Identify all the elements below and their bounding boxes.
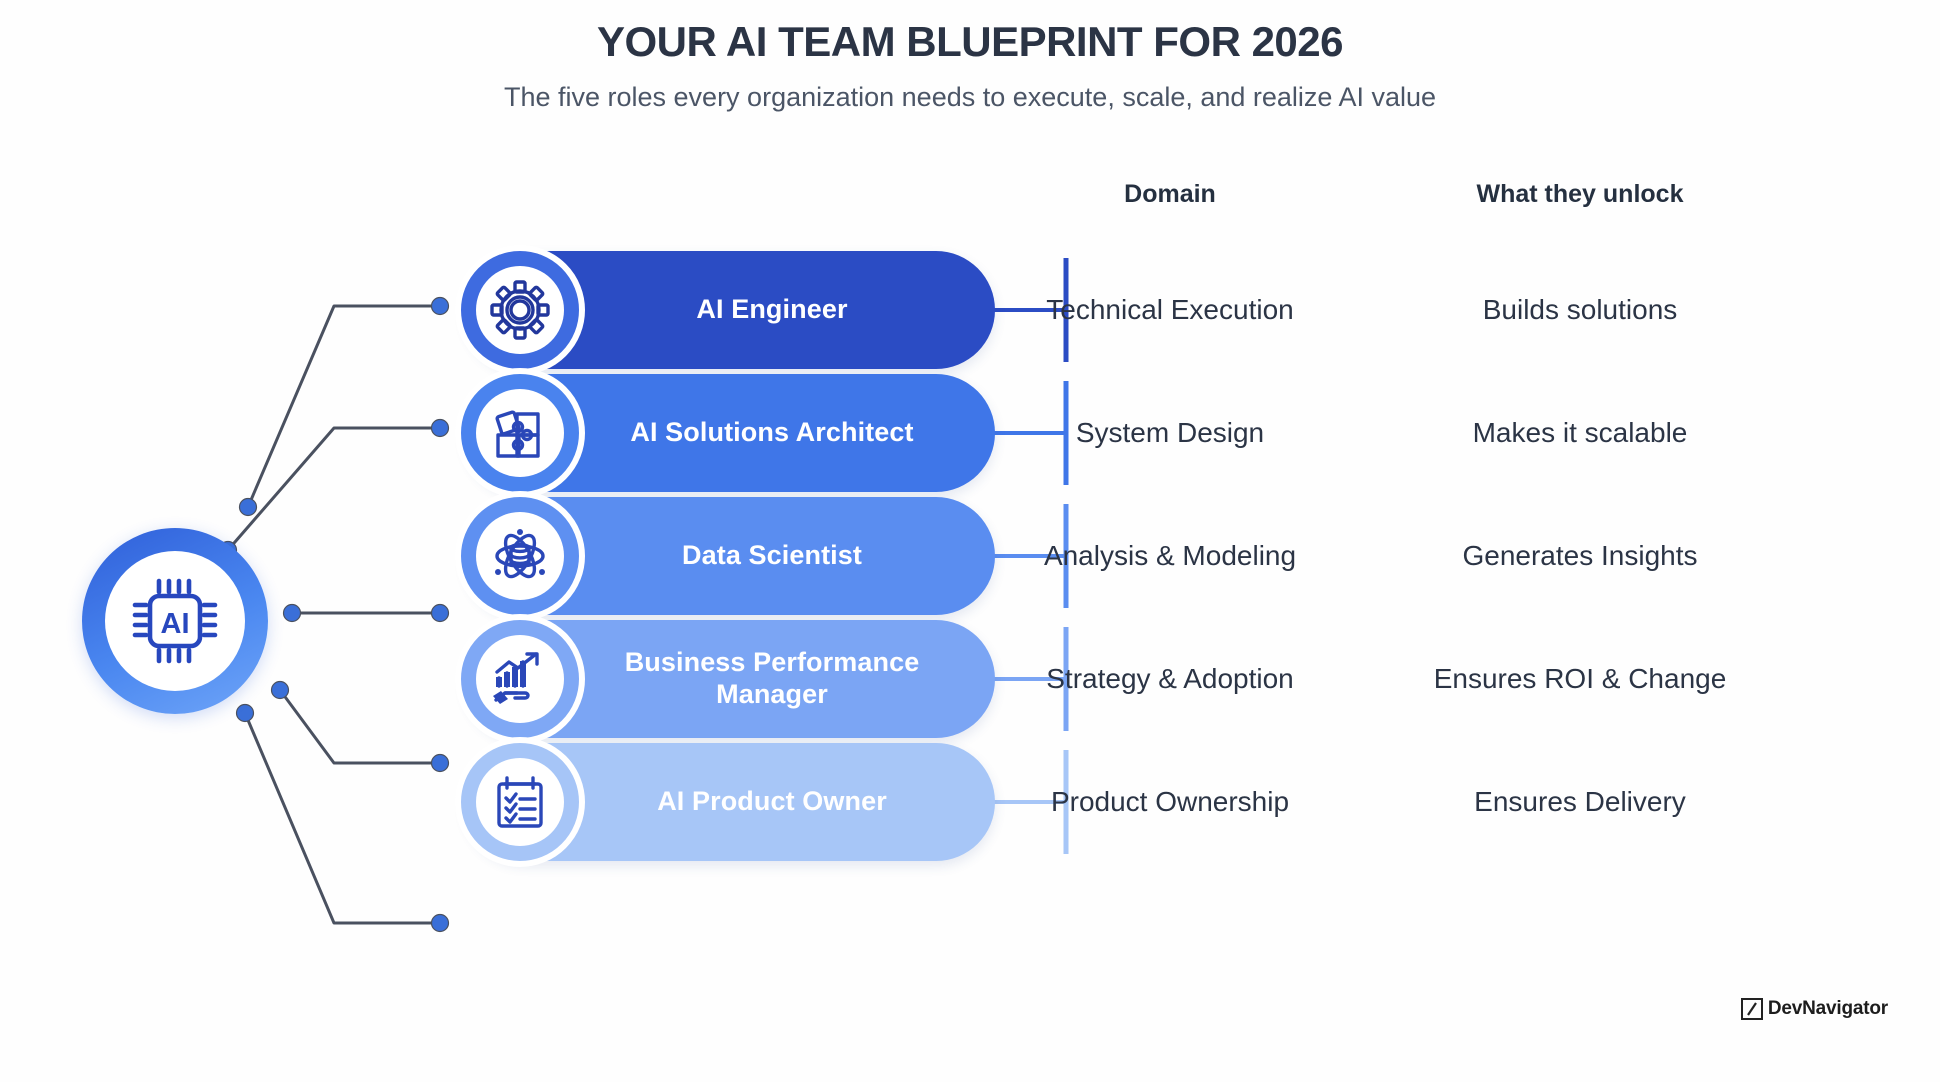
cell-unlock: Ensures ROI & Change: [1380, 620, 1780, 738]
infographic-canvas: YOUR AI TEAM BLUEPRINT FOR 2026 The five…: [0, 0, 1940, 1082]
cell-unlock: Makes it scalable: [1380, 374, 1780, 492]
role-icon-badge: [455, 614, 585, 744]
role-row: AI EngineerTechnical ExecutionBuilds sol…: [0, 251, 1940, 371]
page-subtitle: The five roles every organization needs …: [0, 82, 1940, 113]
role-icon-circle: [476, 389, 564, 477]
puzzle-icon: [489, 402, 551, 464]
brand-name: DevNavigator: [1768, 998, 1888, 1020]
role-icon-circle: [476, 635, 564, 723]
cell-unlock: Builds solutions: [1380, 251, 1780, 369]
role-icon-circle: [476, 512, 564, 600]
atom-database-icon: [489, 525, 551, 587]
role-pill-label: AI Engineer: [586, 294, 873, 326]
role-icon-badge: [455, 737, 585, 867]
brand-logo: DevNavigator: [1741, 998, 1888, 1020]
role-row: Business Performance ManagerStrategy & A…: [0, 620, 1940, 740]
gear-icon: [489, 279, 551, 341]
cell-domain: System Design: [1000, 374, 1340, 492]
role-pill-label: AI Product Owner: [547, 786, 913, 818]
role-icon-ring: [461, 251, 579, 369]
role-icon-badge: [455, 245, 585, 375]
role-row: AI Solutions ArchitectSystem DesignMakes…: [0, 374, 1940, 494]
cell-unlock: Ensures Delivery: [1380, 743, 1780, 861]
connector-dot: [432, 915, 449, 932]
role-icon-circle: [476, 758, 564, 846]
growth-chart-hand-icon: [489, 648, 551, 710]
page-title: YOUR AI TEAM BLUEPRINT FOR 2026: [0, 18, 1940, 66]
cell-domain: Product Ownership: [1000, 743, 1340, 861]
role-icon-ring: [461, 374, 579, 492]
cell-domain: Technical Execution: [1000, 251, 1340, 369]
role-pill-label: Data Scientist: [572, 540, 888, 572]
cell-domain: Analysis & Modeling: [1000, 497, 1340, 615]
cell-domain: Strategy & Adoption: [1000, 620, 1340, 738]
column-header-domain: Domain: [1000, 180, 1340, 209]
role-icon-circle: [476, 266, 564, 354]
role-icon-badge: [455, 368, 585, 498]
role-row: AI Product OwnerProduct OwnershipEnsures…: [0, 743, 1940, 863]
role-row: Data ScientistAnalysis & ModelingGenerat…: [0, 497, 1940, 617]
cell-unlock: Generates Insights: [1380, 497, 1780, 615]
column-header-unlock: What they unlock: [1380, 180, 1780, 209]
clipboard-checklist-icon: [489, 771, 551, 833]
role-icon-badge: [455, 491, 585, 621]
role-icon-ring: [461, 497, 579, 615]
role-icon-ring: [461, 620, 579, 738]
role-icon-ring: [461, 743, 579, 861]
slash-square-icon: [1741, 998, 1763, 1020]
